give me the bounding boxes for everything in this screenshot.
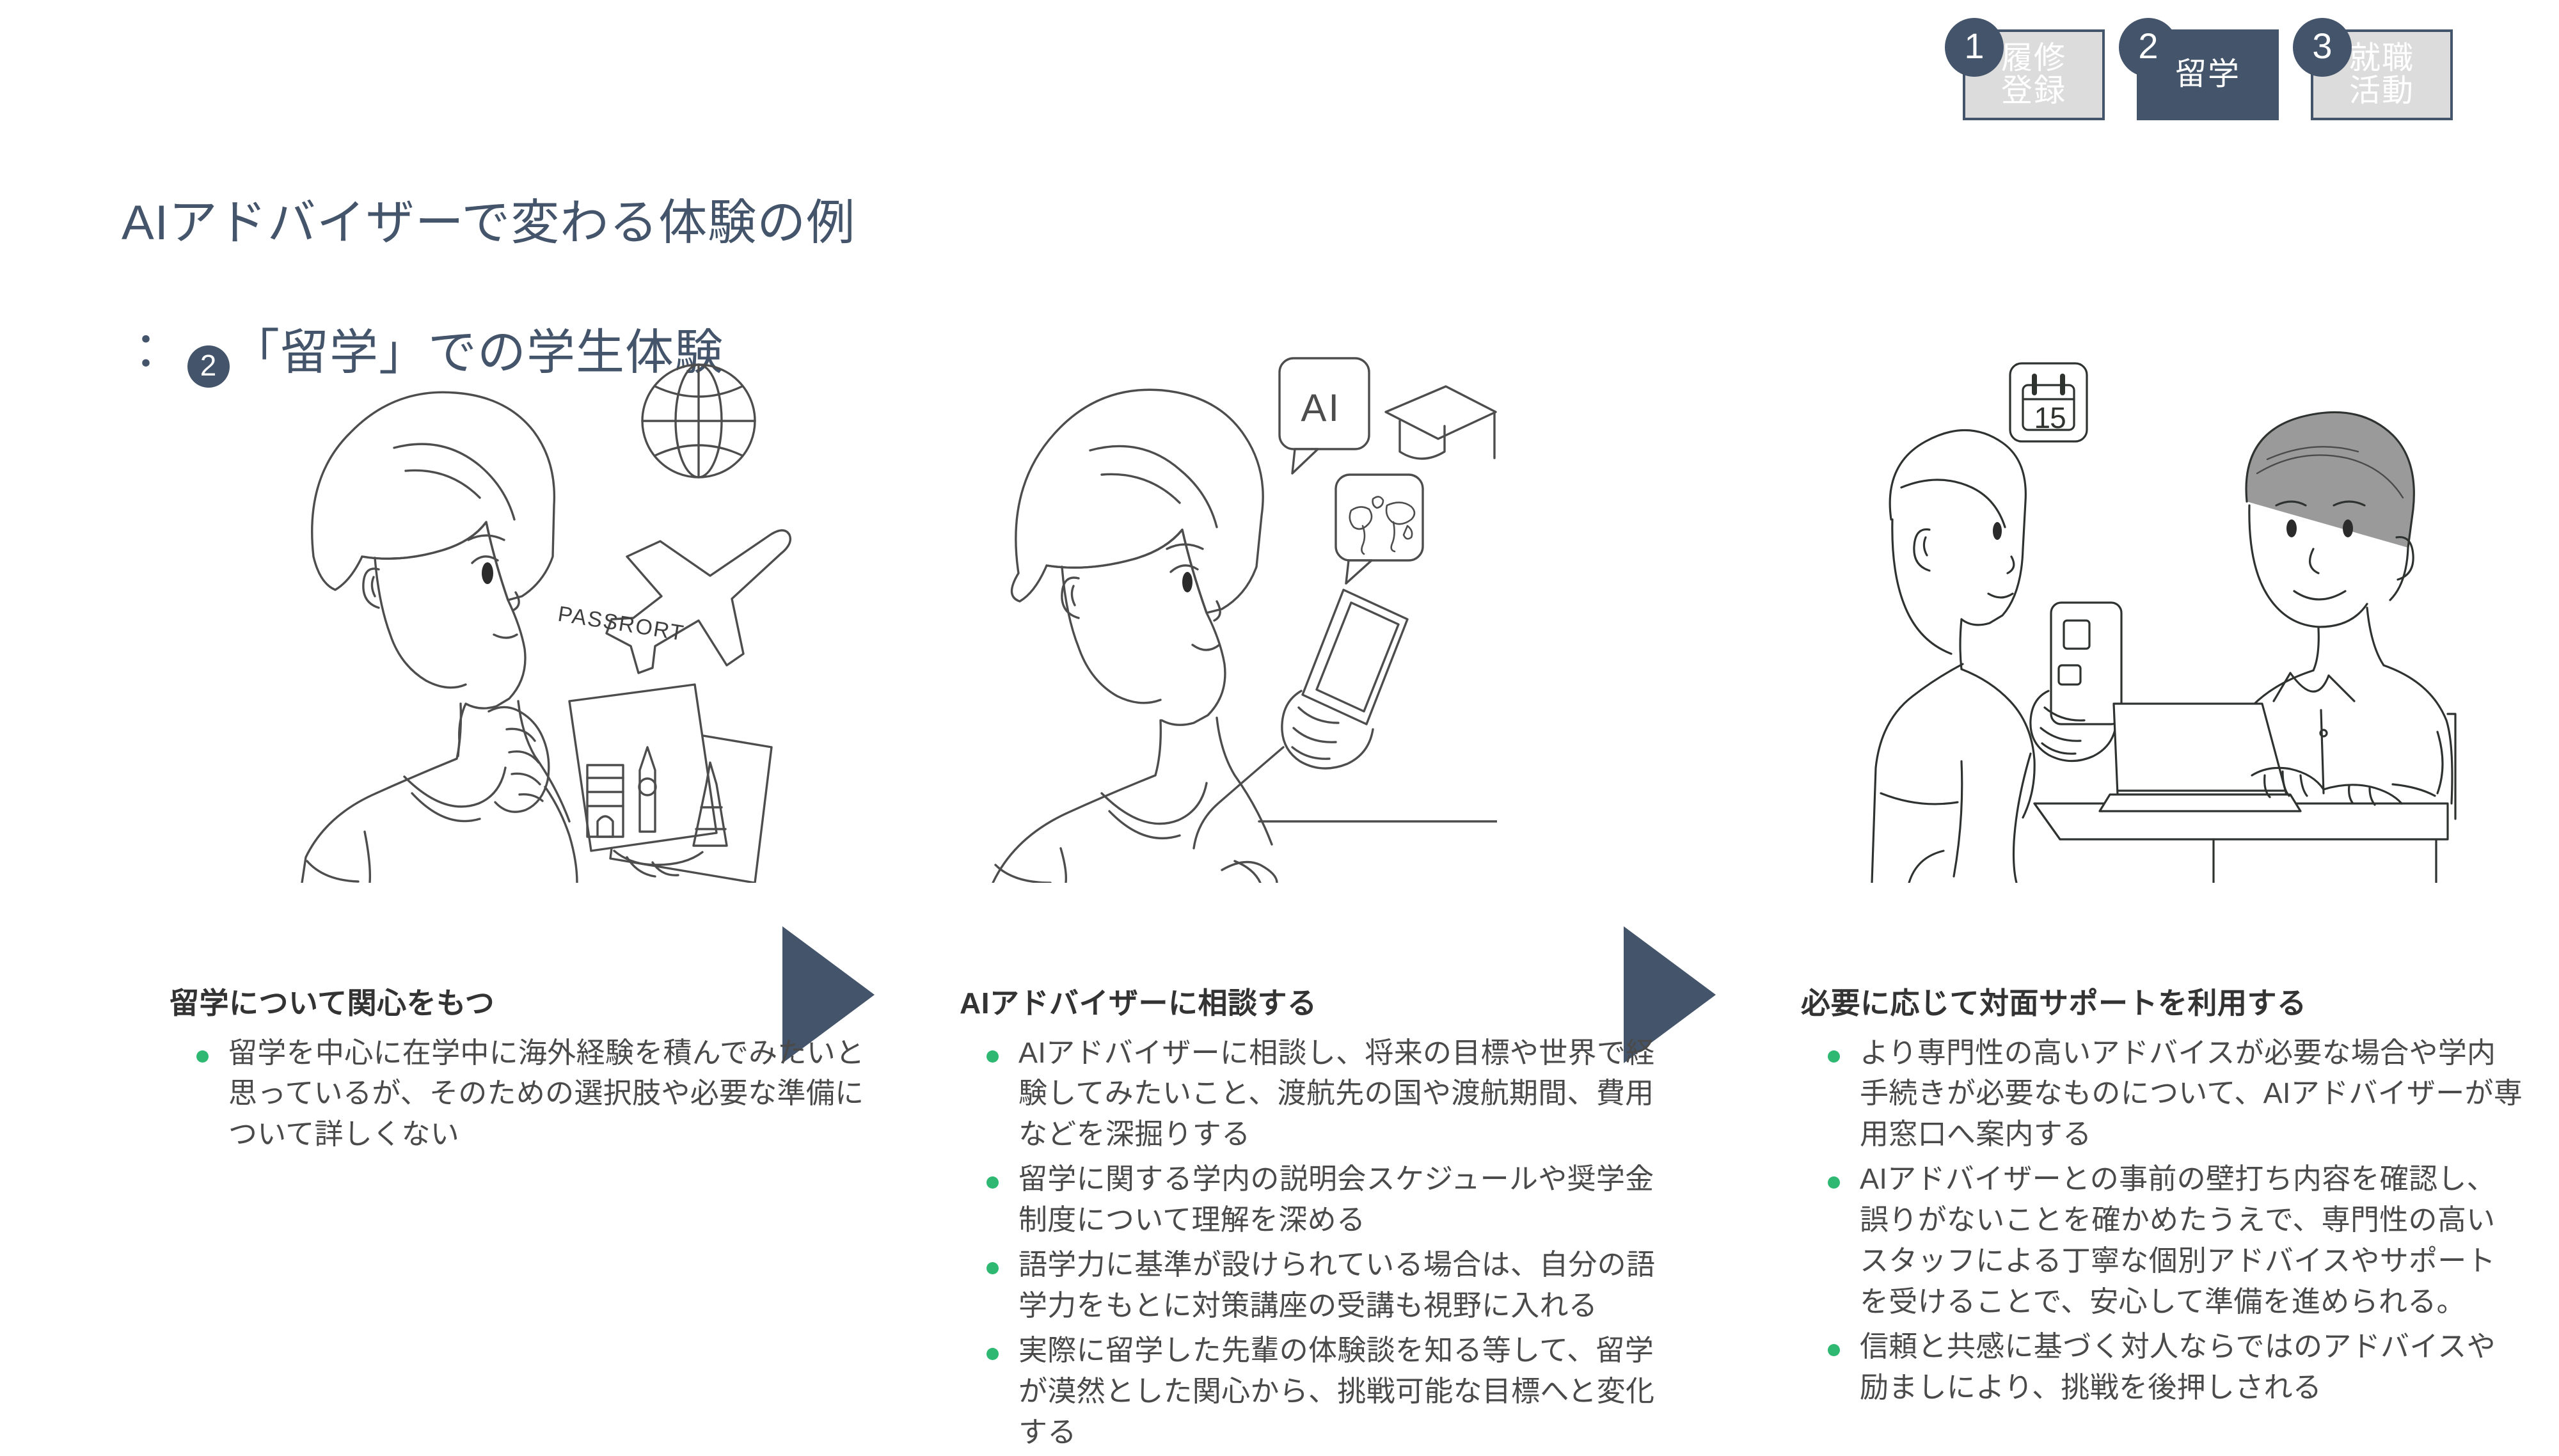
list-item: AIアドバイザーに相談し、将来の目標や世界で経験してみたいこと、渡航先の国や渡航… xyxy=(960,1033,1683,1155)
bullet-text: AIアドバイザーに相談し、将来の目標や世界で経験してみたいこと、渡航先の国や渡航… xyxy=(1018,1036,1654,1151)
bullet-text: 留学を中心に在学中に海外経験を積んでみたいと思っているが、そのための選択肢や必要… xyxy=(228,1036,864,1151)
step-indicator-group: 履修 登録 1 留学 2 就職 活動 3 xyxy=(1945,18,2453,120)
world-map-speech-bubble xyxy=(1336,475,1423,583)
step-badge-1-number: 1 xyxy=(1945,18,2004,77)
text-column-2: AIアドバイザーに相談する AIアドバイザーに相談し、将来の目標や世界で経験して… xyxy=(960,985,1683,1456)
illustration-student-consulting-ai-advisor: AI xyxy=(960,345,1497,883)
bullet-dot-icon xyxy=(196,1050,209,1063)
bullet-dot-icon xyxy=(1828,1176,1840,1189)
bullet-dot-icon xyxy=(986,1348,999,1360)
step-badge-1[interactable]: 履修 登録 1 xyxy=(1945,18,2105,120)
globe-icon xyxy=(642,365,755,477)
laptop xyxy=(2100,704,2301,811)
student-smartphone xyxy=(2051,603,2121,724)
bullet-text: より専門性の高いアドバイスが必要な場合や学内手続きが必要なものについて、AIアド… xyxy=(1860,1036,2523,1151)
illustration-student-thinking-about-study-abroad: PASSRORT xyxy=(269,345,793,883)
bullet-text: 信頼と共感に基づく対人ならではのアドバイスや励ましにより、挑戦を後押しされる xyxy=(1860,1330,2496,1404)
text-column-1: 留学について関心をもつ 留学を中心に在学中に海外経験を積んでみたいと思っているが… xyxy=(170,985,892,1159)
bullet-text: 実際に留学した先輩の体験談を知る等して、留学が漠然とした関心から、挑戦可能な目標… xyxy=(1018,1334,1654,1448)
passport-brochure xyxy=(569,684,772,883)
graduation-cap-icon xyxy=(1386,386,1496,459)
bullet-dot-icon xyxy=(1828,1050,1840,1063)
bullet-dot-icon xyxy=(986,1176,999,1189)
step-badge-3-number: 3 xyxy=(2293,18,2352,77)
bullet-dot-icon xyxy=(986,1050,999,1063)
list-item: 語学力に基準が設けられている場合は、自分の語学力をもとに対策講座の受講も視野に入… xyxy=(960,1244,1683,1326)
page-title-line1: AIアドバイザーで変わる体験の例 xyxy=(122,196,855,250)
calendar-day-number: 15 xyxy=(2034,400,2066,435)
illustration-in-person-support-meeting: 15 xyxy=(1842,345,2457,883)
column-1-bullet-list: 留学を中心に在学中に海外経験を積んでみたいと思っているが、そのための選択肢や必要… xyxy=(170,1033,892,1155)
ai-bubble-text: AI xyxy=(1301,386,1341,430)
step-badge-3[interactable]: 就職 活動 3 xyxy=(2293,18,2453,120)
slide-root: 履修 登録 1 留学 2 就職 活動 3 AIアドバイザーで変わる体験の例 ：2… xyxy=(0,0,2559,1439)
step-badge-2-number: 2 xyxy=(2119,18,2178,77)
illustration-row: PASSRORT xyxy=(0,345,2559,883)
bullet-dot-icon xyxy=(986,1262,999,1274)
list-item: 留学に関する学内の説明会スケジュールや奨学金制度について理解を深める xyxy=(960,1159,1683,1240)
column-2-bullet-list: AIアドバイザーに相談し、将来の目標や世界で経験してみたいこと、渡航先の国や渡航… xyxy=(960,1033,1683,1453)
list-item: 留学を中心に在学中に海外経験を積んでみたいと思っているが、そのための選択肢や必要… xyxy=(170,1033,892,1155)
column-1-heading: 留学について関心をもつ xyxy=(170,985,892,1022)
column-3-heading: 必要に応じて対面サポートを利用する xyxy=(1801,985,2524,1022)
bullet-dot-icon xyxy=(1828,1344,1840,1356)
step-badge-2[interactable]: 留学 2 xyxy=(2119,18,2279,120)
column-3-bullet-list: より専門性の高いアドバイスが必要な場合や学内手続きが必要なものについて、AIアド… xyxy=(1801,1033,2524,1408)
column-2-heading: AIアドバイザーに相談する xyxy=(960,985,1683,1022)
list-item: 実際に留学した先輩の体験談を知る等して、留学が漠然とした関心から、挑戦可能な目標… xyxy=(960,1330,1683,1453)
bullet-text: 留学に関する学内の説明会スケジュールや奨学金制度について理解を深める xyxy=(1018,1162,1654,1236)
airplane-icon xyxy=(606,530,790,673)
list-item: AIアドバイザーとの事前の壁打ち内容を確認し、誤りがないことを確かめたうえで、専… xyxy=(1801,1159,2524,1322)
smartphone xyxy=(1303,590,1407,724)
text-column-3: 必要に応じて対面サポートを利用する より専門性の高いアドバイスが必要な場合や学内… xyxy=(1801,985,2524,1412)
list-item: より専門性の高いアドバイスが必要な場合や学内手続きが必要なものについて、AIアド… xyxy=(1801,1033,2524,1155)
bullet-text: 語学力に基準が設けられている場合は、自分の語学力をもとに対策講座の受講も視野に入… xyxy=(1018,1248,1655,1322)
bullet-text: AIアドバイザーとの事前の壁打ち内容を確認し、誤りがないことを確かめたうえで、専… xyxy=(1860,1162,2496,1318)
list-item: 信頼と共感に基づく対人ならではのアドバイスや励ましにより、挑戦を後押しされる xyxy=(1801,1326,2524,1408)
